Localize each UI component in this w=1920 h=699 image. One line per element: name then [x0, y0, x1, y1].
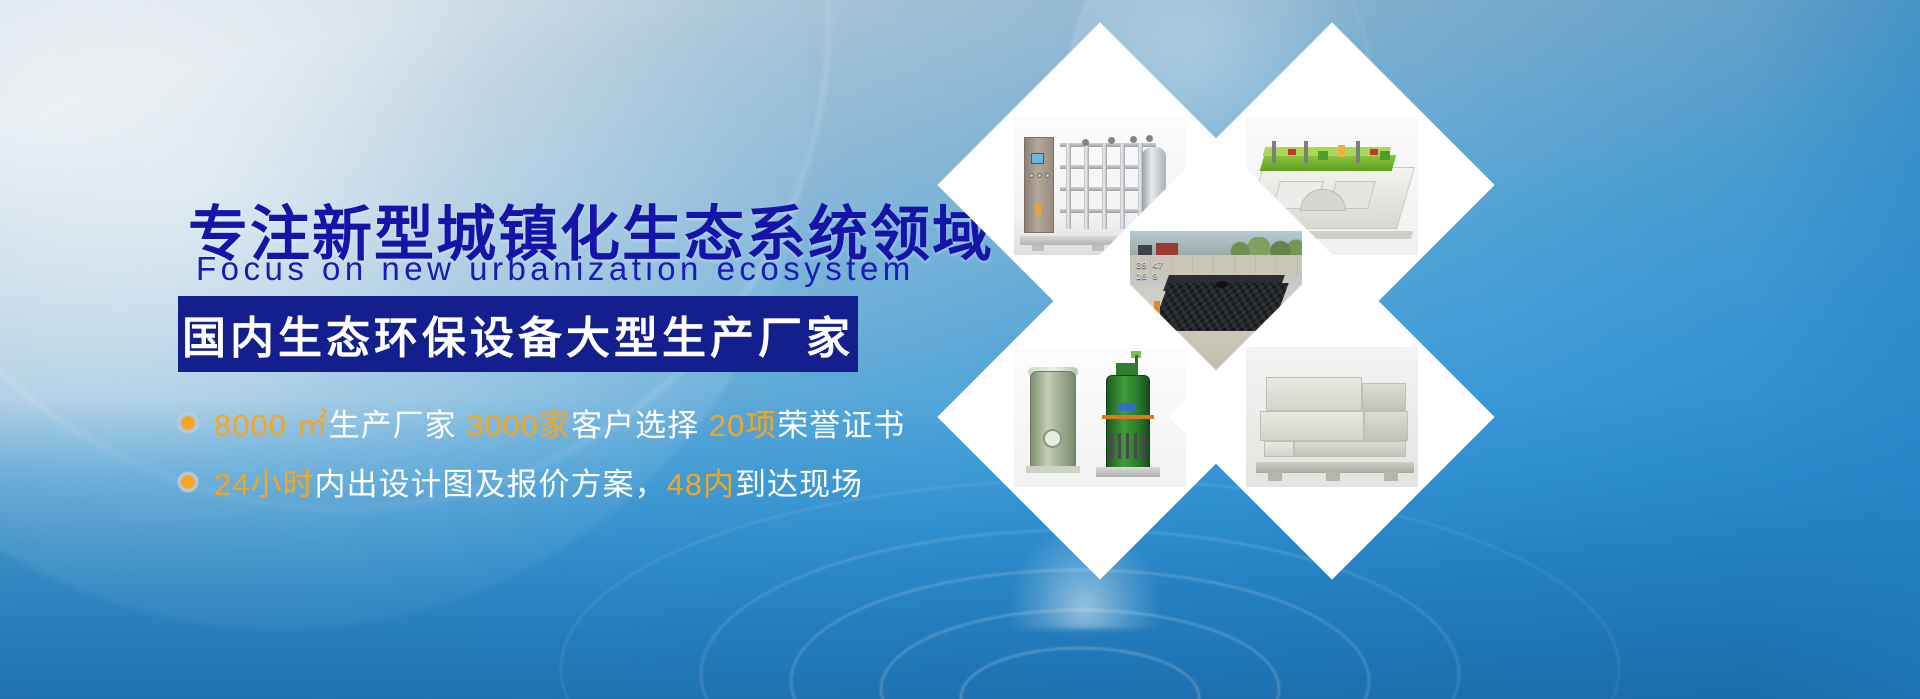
bullet-2-seg-3: 到达现场 [735, 467, 863, 502]
product-diamond-collage: 39 4716 9 [905, 40, 1920, 600]
bullet-list: 8000 ㎡生产厂家 3000家客户选择 20项荣誉证书 24小时内出设计图及报… [178, 400, 905, 518]
subheadline-english: Focus on new urbanization ecosystem [196, 250, 915, 288]
bullet-2-seg-0: 24小时 [214, 467, 314, 502]
bullet-2-seg-2: 48内 [666, 467, 734, 502]
bullet-1-seg-4: 20项 [709, 408, 777, 443]
hero-banner: 专注新型城镇化生态系统领域 Focus on new urbanization … [0, 0, 1920, 699]
photo-frp-integrated-pump-station [1014, 347, 1186, 487]
bullet-1-seg-2: 3000家 [466, 408, 571, 443]
bullet-1-seg-1: 生产厂家 [329, 408, 467, 443]
bullet-1-seg-5: 荣誉证书 [777, 408, 905, 443]
list-item: 8000 ㎡生产厂家 3000家客户选择 20项荣誉证书 [178, 400, 905, 445]
bullet-line-2-text: 24小时内出设计图及报价方案，48内到达现场 [214, 459, 863, 504]
banner-copy: 专注新型城镇化生态系统领域 Focus on new urbanization … [0, 0, 900, 699]
bullet-dot-icon [178, 472, 198, 492]
bullet-1-seg-3: 客户选择 [571, 408, 709, 443]
bullet-1-seg-0: 8000 ㎡ [214, 408, 329, 443]
badge-label: 国内生态环保设备大型生产厂家 [182, 302, 854, 366]
bullet-line-1-text: 8000 ㎡生产厂家 3000家客户选择 20项荣誉证书 [214, 400, 905, 445]
photo-precast-concrete-blocks [1246, 347, 1418, 487]
list-item: 24小时内出设计图及报价方案，48内到达现场 [178, 459, 905, 504]
bullet-2-seg-1: 内出设计图及报价方案， [314, 467, 666, 502]
badge-banner: 国内生态环保设备大型生产厂家 [178, 296, 858, 372]
bullet-dot-icon [178, 413, 198, 433]
